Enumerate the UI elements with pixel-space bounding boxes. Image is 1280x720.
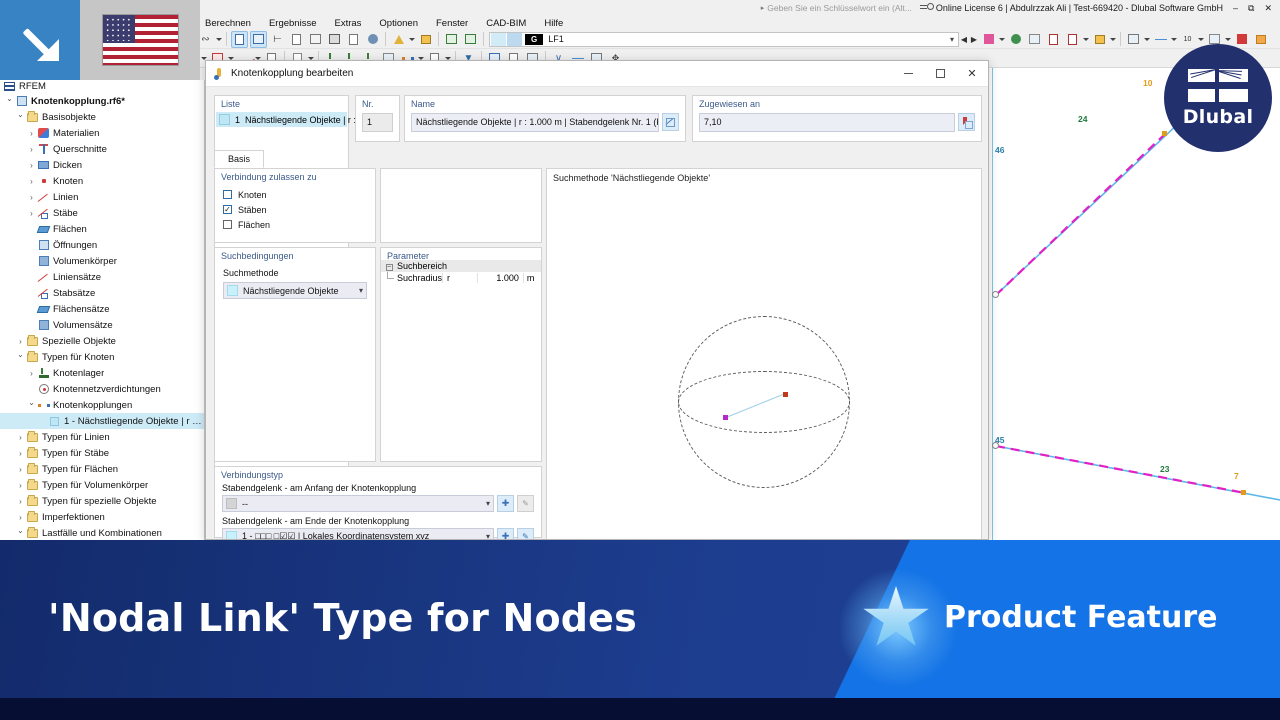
tree-item-label: Dicken <box>53 160 82 171</box>
load-case-selector[interactable]: G LF1 ▾ <box>489 32 959 47</box>
checkbox-flaechen-label: Flächen <box>238 220 270 230</box>
name-field-box: Name Nächstliegende Objekte | r : 1.000 … <box>404 95 686 142</box>
tree-item-typen-f-r-linien[interactable]: Typen für Linien <box>0 429 204 445</box>
material-icon <box>37 127 50 140</box>
menu-item-optionen[interactable]: Optionen <box>370 18 427 29</box>
search-method-value: Nächstliegende Objekte <box>243 286 339 296</box>
folder-icon <box>26 479 39 492</box>
load-icon[interactable] <box>390 31 407 48</box>
edit-hinge-end-button[interactable]: ✎ <box>517 528 534 540</box>
parameter-unit: m <box>523 273 541 283</box>
color-swatch-icon[interactable] <box>1252 31 1269 48</box>
node-46-marker[interactable] <box>992 291 999 298</box>
folder-icon <box>26 527 39 540</box>
tree-item-label: Volumensätze <box>53 320 113 331</box>
license-info: Online License 6 | Abdulrzzak Ali | Test… <box>936 3 1223 13</box>
nodal-link-icon <box>37 399 50 412</box>
navigator-root-label: RFEM <box>19 81 46 92</box>
tree-item-label: Typen für spezielle Objekte <box>42 496 157 507</box>
tree-item-label: Typen für Knoten <box>42 352 114 363</box>
tree-twisty-icon[interactable] <box>15 449 26 458</box>
folder-icon <box>26 111 39 124</box>
menu-item-hilfe[interactable]: Hilfe <box>535 18 572 29</box>
restore-button[interactable]: ⧉ <box>1248 3 1254 14</box>
folder-icon <box>26 511 39 524</box>
dialog-minimize-button[interactable] <box>892 62 924 86</box>
tree-item-label: Knoten <box>53 176 83 187</box>
assigned-to-label: Zugewiesen an <box>699 99 760 109</box>
checkbox-knoten-box[interactable] <box>223 190 232 199</box>
dialog-titlebar: Knotenkopplung bearbeiten ✕ <box>206 61 988 87</box>
load-case-color-swatch-2 <box>507 33 522 46</box>
checkbox-knoten-label: Knoten <box>238 190 267 200</box>
tree-twisty-icon[interactable] <box>26 401 37 410</box>
folder-icon <box>26 447 39 460</box>
navigator-tree[interactable]: Knotenkopplung.rf6*BasisobjekteMateriali… <box>0 93 204 540</box>
keyword-search-box[interactable]: ▸ Geben Sie ein Schlüsselwort ein (Alt..… <box>761 3 912 13</box>
node-icon <box>37 175 50 188</box>
menu-item-ergebnisse[interactable]: Ergebnisse <box>260 18 326 29</box>
parameter-symbol: r <box>442 273 477 283</box>
tree-twisty-icon[interactable] <box>15 481 26 490</box>
arrow-badge <box>0 0 80 80</box>
number-field-label: Nr. <box>362 99 374 109</box>
list-item-text: Nächstliegende Objekte | r : 1.0 <box>245 115 371 125</box>
tree-item-ffnungen[interactable]: Öffnungen <box>0 237 204 253</box>
tree-twisty-icon[interactable] <box>15 497 26 506</box>
tree-item-typen-f-r-fl-chen[interactable]: Typen für Flächen <box>0 461 204 477</box>
line-support-icon[interactable] <box>462 31 479 48</box>
tree-twisty-icon[interactable] <box>15 353 26 362</box>
solid-icon <box>37 255 50 268</box>
search-icon[interactable] <box>920 3 932 13</box>
load-case-nav[interactable]: ◀ ▶ <box>959 35 979 44</box>
next-load-case-icon[interactable]: ▶ <box>969 35 979 44</box>
table-row[interactable]: Suchradius r 1.000 m <box>381 272 541 284</box>
tree-item-label: Linien <box>53 192 78 203</box>
table-panel-icon[interactable] <box>250 31 267 48</box>
list-panel-label: Liste <box>221 99 240 109</box>
checkbox-staeben-box[interactable] <box>223 205 232 214</box>
tree-item-1-n-chstliegende-objekte-r-1-000-m[interactable]: 1 - Nächstliegende Objekte | r : 1.000 m <box>0 413 204 429</box>
tree-item-querschnitte[interactable]: Querschnitte <box>0 141 204 157</box>
section-icon[interactable] <box>1091 31 1108 48</box>
undo-dropdown-caret-icon[interactable] <box>215 31 223 48</box>
parameter-value[interactable]: 1.000 <box>477 273 522 283</box>
preview-panel: Suchmethode 'Nächstliegende Objekte' <box>546 168 982 540</box>
report-list-icon[interactable] <box>345 31 362 48</box>
search-method-swatch <box>227 285 238 296</box>
checkbox-flaechen-box[interactable] <box>223 220 232 229</box>
folder-icon <box>26 335 39 348</box>
tree-item-knotenlager[interactable]: Knotenlager <box>0 365 204 381</box>
parameters-group-row[interactable]: − Suchbereich <box>381 260 541 272</box>
edit-hinge-start-button[interactable]: ✎ <box>517 495 534 512</box>
checkbox-staeben-label: Stäben <box>238 205 267 215</box>
model-navigator-panel[interactable]: RFEM Knotenkopplung.rf6*BasisobjekteMate… <box>0 80 205 540</box>
parameters-table[interactable]: − Suchbereich Suchradius r 1.000 m <box>381 260 541 461</box>
show-loads-caret-icon[interactable] <box>998 31 1006 48</box>
tree-item-spezielle-objekte[interactable]: Spezielle Objekte <box>0 333 204 349</box>
assigned-to-input[interactable]: 7,10 <box>699 113 955 132</box>
search-conditions-group: Suchbedingungen Suchmethode Nächstliegen… <box>214 247 376 462</box>
tree-item-label: Typen für Stäbe <box>42 448 109 459</box>
mesh-icon[interactable] <box>1233 31 1250 48</box>
tree-twisty-icon[interactable] <box>26 193 37 202</box>
edit-nodal-link-dialog[interactable]: Knotenkopplung bearbeiten ✕ Liste 1 Näc <box>205 60 989 540</box>
list-item-swatch <box>219 114 230 125</box>
parameter-name: Suchradius <box>381 273 442 283</box>
menu-item-extras[interactable]: Extras <box>325 18 370 29</box>
tree-item-linien[interactable]: Linien <box>0 189 204 205</box>
tree-item-label: Öffnungen <box>53 240 97 251</box>
minimize-button[interactable]: – <box>1233 3 1238 14</box>
close-button[interactable]: ✕ <box>1264 3 1272 14</box>
tree-item-label: Lastfälle und Kombinationen <box>42 528 162 539</box>
solid-set-icon <box>37 319 50 332</box>
tree-item-label: Typen für Flächen <box>42 464 118 475</box>
tree-item-label: Knotennetzverdichtungen <box>53 384 161 395</box>
opening-icon <box>37 239 50 252</box>
tree-twisty-icon[interactable] <box>26 161 37 170</box>
section-caret-icon[interactable] <box>1109 31 1117 48</box>
rfem-application-window: ▸ Geben Sie ein Schlüsselwort ein (Alt..… <box>0 0 1280 540</box>
parameters-group: Parameter − Suchbereich Suchradius r 1.0… <box>380 247 542 462</box>
tree-twisty-icon[interactable] <box>26 129 37 138</box>
window-controls: – ⧉ ✕ <box>1233 3 1272 14</box>
tree-item-st-be[interactable]: Stäbe <box>0 205 204 221</box>
view-line-icon[interactable] <box>1152 31 1169 48</box>
member-set-icon <box>37 287 50 300</box>
print-icon[interactable] <box>326 31 343 48</box>
printer-icon[interactable] <box>1125 31 1142 48</box>
tree-item-label: Knotenkopplungen <box>53 400 132 411</box>
dialog-body: Liste 1 Nächstliegende Objekte | r : 1.0… <box>206 87 988 540</box>
navigator-panel-icon[interactable] <box>231 31 248 48</box>
hinge-start-select[interactable]: -- ▾ <box>222 495 494 512</box>
tree-item-materialien[interactable]: Materialien <box>0 125 204 141</box>
pencil-icon <box>666 118 675 127</box>
deformation-icon[interactable] <box>1026 31 1043 48</box>
sphere-center-point <box>783 392 788 397</box>
printer-caret-icon[interactable] <box>1143 31 1151 48</box>
edit-name-button[interactable] <box>662 113 679 131</box>
hinge-end-select[interactable]: 1 - □□□ □☑☑ | Lokales Koordinatensystem … <box>222 528 494 540</box>
tree-item-stabs-tze[interactable]: Stabsätze <box>0 285 204 301</box>
tree-twisty-icon[interactable] <box>4 97 15 106</box>
folder-icon <box>26 351 39 364</box>
allow-connection-title: Verbindung zulassen zu <box>221 172 317 182</box>
swatch-icon <box>48 415 61 428</box>
menu-item-berechnen[interactable]: Berechnen <box>196 18 260 29</box>
checkbox-knoten[interactable]: Knoten <box>223 187 270 202</box>
load-case-caret-icon[interactable]: ▾ <box>950 35 954 44</box>
tree-twisty-icon[interactable] <box>15 529 26 538</box>
tree-item-typen-f-r-volumenk-rper[interactable]: Typen für Volumenkörper <box>0 477 204 493</box>
tree-item-volumens-tze[interactable]: Volumensätze <box>0 317 204 333</box>
hinge-end-swatch <box>226 531 237 540</box>
assigned-to-field-box: Zugewiesen an 7,10 <box>692 95 982 142</box>
tree-twisty-icon[interactable] <box>15 337 26 346</box>
banner-footer-strip <box>0 698 1280 720</box>
pick-cursor-icon <box>962 117 972 128</box>
tree-item-label: Liniensätze <box>53 272 101 283</box>
tree-item-dicken[interactable]: Dicken <box>0 157 204 173</box>
us-flag-icon <box>102 14 179 66</box>
tree-item-knotenkopplung-rf6[interactable]: Knotenkopplung.rf6* <box>0 93 204 109</box>
name-input[interactable]: Nächstliegende Objekte | r : 1.000 m | S… <box>411 113 659 132</box>
printout-report-icon[interactable] <box>307 31 324 48</box>
folder-icon <box>26 431 39 444</box>
allow-connection-side-panel <box>380 168 542 243</box>
dialog-maximize-button[interactable] <box>924 62 956 86</box>
dialog-title: Knotenkopplung bearbeiten <box>231 68 353 79</box>
tree-item-label: Knotenkopplung.rf6* <box>31 96 125 107</box>
search-method-label: Suchmethode <box>223 268 367 278</box>
new-hinge-start-button[interactable]: ✚ <box>497 495 514 512</box>
tree-item-basisobjekte[interactable]: Basisobjekte <box>0 109 204 125</box>
search-conditions-title: Suchbedingungen <box>221 251 294 261</box>
new-hinge-end-button[interactable]: ✚ <box>497 528 514 540</box>
prev-load-case-icon[interactable]: ◀ <box>959 35 969 44</box>
banner-subtitle: Product Feature <box>944 600 1218 635</box>
tree-twisty-icon[interactable] <box>26 145 37 154</box>
search-sphere-diagram <box>678 316 850 488</box>
screenshot-root: ▸ Geben Sie ein Schlüsselwort ein (Alt..… <box>0 0 1280 720</box>
checkbox-staeben[interactable]: Stäben <box>223 202 270 217</box>
preview-title: Suchmethode 'Nächstliegende Objekte' <box>553 173 710 183</box>
member-icon <box>37 207 50 220</box>
cross-section-icon <box>37 143 50 156</box>
navigator-header: RFEM <box>0 80 204 93</box>
view-line-caret-icon[interactable] <box>1170 31 1178 48</box>
tree-item-knoten[interactable]: Knoten <box>0 173 204 189</box>
tree-item-lastf-lle-und-kombinationen[interactable]: Lastfälle und Kombinationen <box>0 525 204 540</box>
tree-item-typen-f-r-st-be[interactable]: Typen für Stäbe <box>0 445 204 461</box>
tree-item-label: Basisobjekte <box>42 112 96 123</box>
tree-twisty-icon[interactable] <box>26 177 37 186</box>
scale-icon[interactable]: 10 <box>1179 31 1196 48</box>
dimension-icon[interactable]: ⊢ <box>269 31 286 48</box>
node-label: 45 <box>995 435 1004 445</box>
thickness-icon <box>37 159 50 172</box>
dialog-close-button[interactable]: ✕ <box>956 62 988 86</box>
folder-icon <box>26 463 39 476</box>
hinge-end-caret-icon[interactable]: ▾ <box>482 532 490 540</box>
tree-item-label: Stäbe <box>53 208 78 219</box>
search-method-caret-icon[interactable]: ▾ <box>355 286 363 295</box>
hinge-end-label: Stabendgelenk - am Ende der Knotenkopplu… <box>222 516 534 526</box>
connection-type-title: Verbindungstyp <box>221 470 283 480</box>
tree-item-typen-f-r-spezielle-objekte[interactable]: Typen für spezielle Objekte <box>0 493 204 509</box>
results-icon[interactable] <box>1007 31 1024 48</box>
node-label: 23 <box>1160 464 1169 474</box>
grid-icon[interactable] <box>417 31 434 48</box>
arrow-down-right-icon <box>23 23 57 57</box>
node-label: 24 <box>1078 114 1087 124</box>
tree-twisty-icon[interactable] <box>15 465 26 474</box>
hinge-start-value: -- <box>242 499 248 509</box>
expand-collapse-icon[interactable]: − <box>381 262 397 271</box>
rfem-logo-icon <box>4 82 15 91</box>
sphere-node-point <box>723 415 728 420</box>
tree-item-label: Flächensätze <box>53 304 110 315</box>
tree-item-typen-f-r-knoten[interactable]: Typen für Knoten <box>0 349 204 365</box>
node-label: 10 <box>1143 78 1152 88</box>
tree-item-label: Imperfektionen <box>42 512 105 523</box>
axis-x-icon[interactable] <box>1064 31 1081 48</box>
tree-item-knotennetzverdichtungen[interactable]: Knotennetzverdichtungen <box>0 381 204 397</box>
dlubal-bridge-icon <box>1188 69 1248 103</box>
tab-basis[interactable]: Basis <box>214 150 264 168</box>
tree-item-imperfektionen[interactable]: Imperfektionen <box>0 509 204 525</box>
tree-item-label: Knotenlager <box>53 368 104 379</box>
hinge-end-value: 1 - □□□ □☑☑ | Lokales Koordinatensystem … <box>242 531 429 540</box>
tree-item-label: Stabsätze <box>53 288 95 299</box>
tree-twisty-icon[interactable] <box>15 513 26 522</box>
tree-item-liniens-tze[interactable]: Liniensätze <box>0 269 204 285</box>
allow-connection-group: Verbindung zulassen zu Knoten Stäben <box>214 168 376 243</box>
list-item[interactable]: 1 Nächstliegende Objekte | r : 1.0 <box>216 112 347 127</box>
number-field-box: Nr. 1 <box>355 95 400 142</box>
node-label: 46 <box>995 145 1004 155</box>
list-item-number: 1 <box>235 115 240 125</box>
tree-twisty-icon[interactable] <box>15 433 26 442</box>
banner-title: 'Nodal Link' Type for Nodes <box>48 596 637 640</box>
menu-item-cad-bim[interactable]: CAD-BIM <box>477 18 535 29</box>
tree-twisty-icon[interactable] <box>15 113 26 122</box>
connection-type-group: Verbindungstyp Stabendgelenk - am Anfang… <box>214 466 542 538</box>
file-icon <box>15 95 28 108</box>
load-case-tag: G <box>525 34 543 45</box>
tree-item-fl-chen[interactable]: Flächen <box>0 221 204 237</box>
search-method-select[interactable]: Nächstliegende Objekte ▾ <box>223 282 367 299</box>
tree-item-label: Typen für Volumenkörper <box>42 480 148 491</box>
checkbox-flaechen[interactable]: Flächen <box>223 217 270 232</box>
surface-icon <box>37 223 50 236</box>
load-case-color-swatch <box>491 33 506 46</box>
tree-item-knotenkopplungen[interactable]: Knotenkopplungen <box>0 397 204 413</box>
search-placeholder-text: Geben Sie ein Schlüsselwort ein (Alt... <box>767 3 912 13</box>
folder-icon <box>26 495 39 508</box>
surface-set-icon <box>37 303 50 316</box>
hinge-start-caret-icon[interactable]: ▾ <box>482 499 490 508</box>
load-dropdown-caret-icon[interactable] <box>408 31 416 48</box>
axis-z-icon[interactable] <box>1045 31 1062 48</box>
search-caret-icon: ▸ <box>761 4 765 12</box>
tree-twisty-icon[interactable] <box>26 369 37 378</box>
dlubal-logo: Dlubal <box>1164 44 1272 152</box>
pick-objects-button[interactable] <box>958 113 975 131</box>
support-icon <box>37 367 50 380</box>
render-icon[interactable] <box>364 31 381 48</box>
name-field-label: Name <box>411 99 435 109</box>
parameters-group-name: Suchbereich <box>397 261 541 271</box>
tree-item-fl-chens-tze[interactable]: Flächensätze <box>0 301 204 317</box>
hinge-start-swatch <box>226 498 237 509</box>
tree-item-label: 1 - Nächstliegende Objekte | r : 1.000 m <box>64 416 204 427</box>
dlubal-wordmark: Dlubal <box>1183 106 1254 128</box>
hinge-start-label: Stabendgelenk - am Anfang der Knotenkopp… <box>222 483 534 493</box>
tree-item-label: Flächen <box>53 224 87 235</box>
axis-caret-icon[interactable] <box>1082 31 1090 48</box>
node-support-icon[interactable] <box>443 31 460 48</box>
line-set-icon <box>37 271 50 284</box>
tree-item-volumenk-rper[interactable]: Volumenkörper <box>0 253 204 269</box>
node-label: 7 <box>1234 471 1239 481</box>
line-icon <box>37 191 50 204</box>
menu-item-fenster[interactable]: Fenster <box>427 18 477 29</box>
load-case-label: LF1 <box>548 34 564 44</box>
tree-twisty-icon[interactable] <box>26 209 37 218</box>
tree-item-label: Typen für Linien <box>42 432 110 443</box>
dialog-tabstrip[interactable]: Basis <box>214 150 264 168</box>
tree-item-label: Querschnitte <box>53 144 107 155</box>
number-input[interactable]: 1 <box>362 113 393 132</box>
document-icon[interactable] <box>288 31 305 48</box>
mesh-refinement-icon <box>37 383 50 396</box>
tree-item-label: Spezielle Objekte <box>42 336 116 347</box>
tree-item-label: Volumenkörper <box>53 256 117 267</box>
nodal-link-icon <box>213 68 225 80</box>
tree-item-label: Materialien <box>53 128 99 139</box>
show-loads-icon[interactable] <box>980 31 997 48</box>
